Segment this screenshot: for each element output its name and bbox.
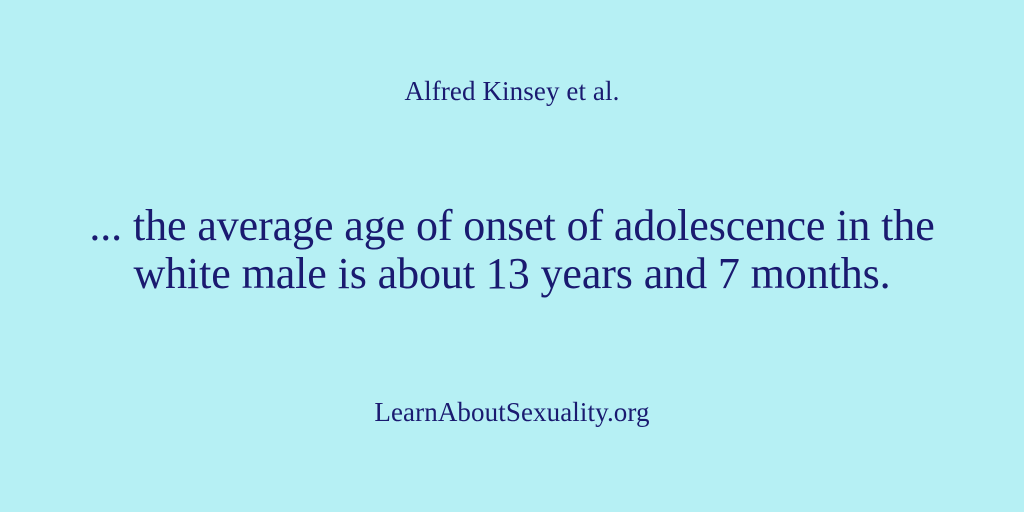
source-website-label: LearnAboutSexuality.org bbox=[0, 395, 1024, 429]
quote-line-1: ... the average age of onset of adolesce… bbox=[32, 202, 992, 250]
quote-attribution: Alfred Kinsey et al. bbox=[0, 74, 1024, 108]
quote-line-2: white male is about 13 years and 7 month… bbox=[32, 250, 992, 298]
quote-text-block: ... the average age of onset of adolesce… bbox=[32, 202, 992, 298]
quote-card: Alfred Kinsey et al. ... the average age… bbox=[0, 0, 1024, 512]
